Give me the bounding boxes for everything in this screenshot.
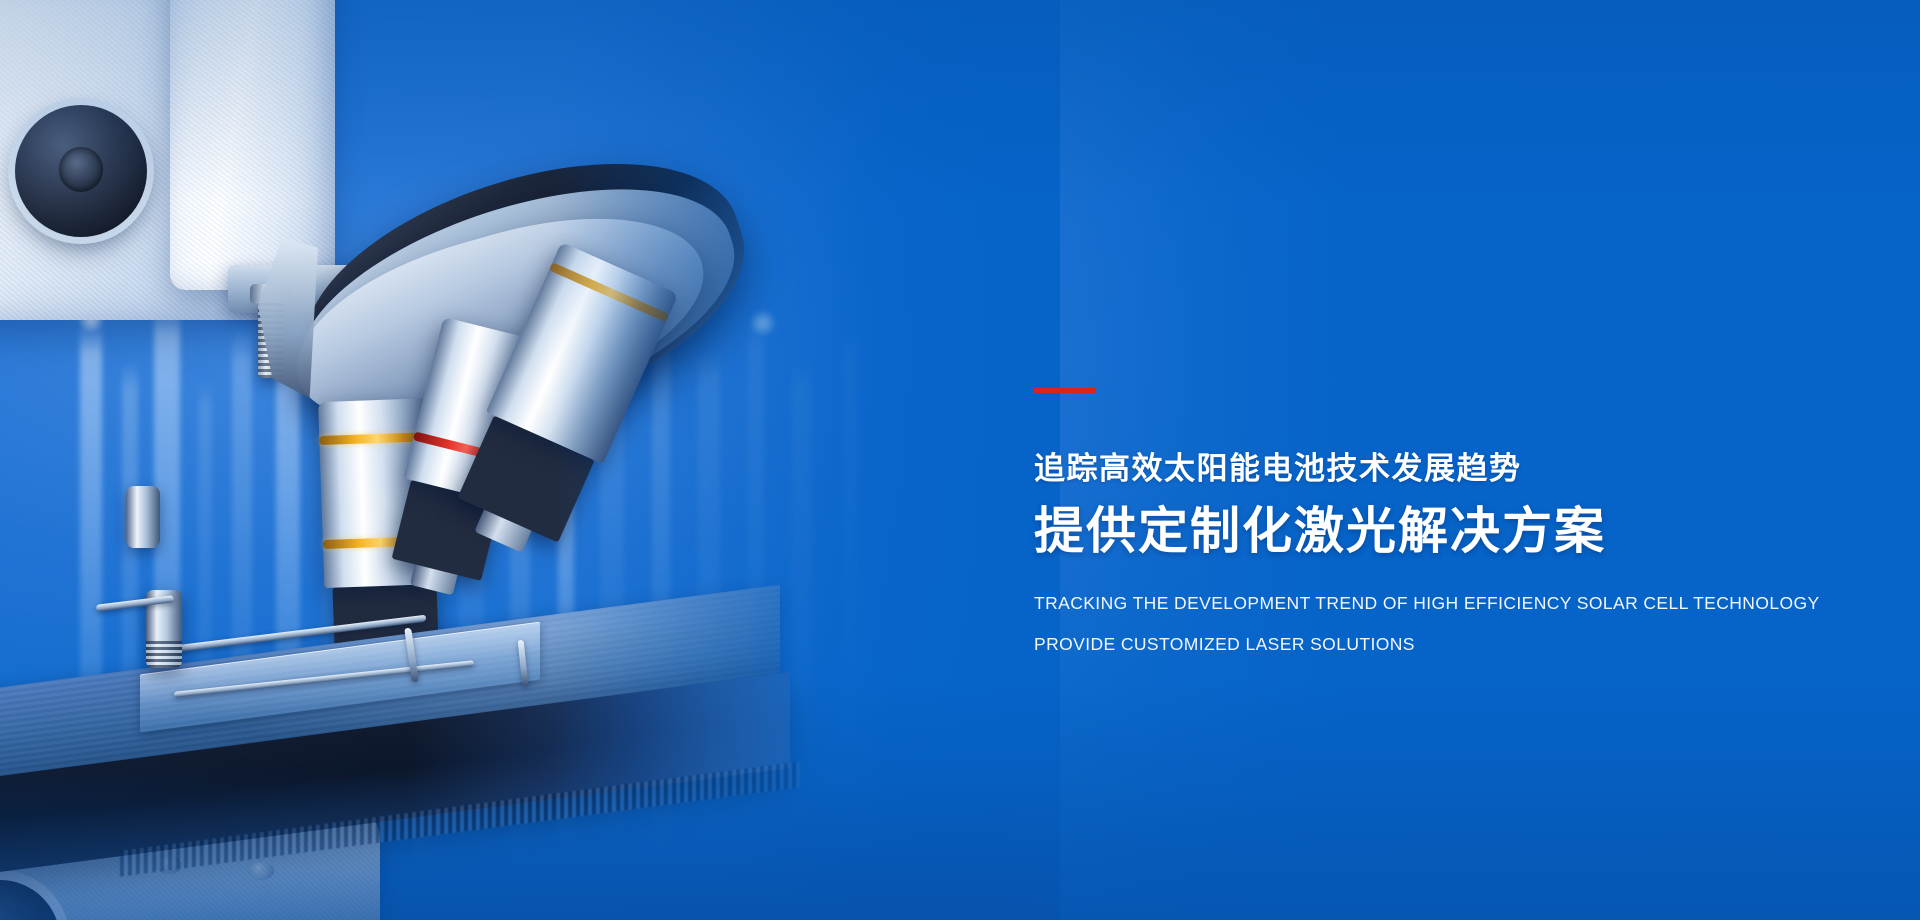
banner-english-line-1: TRACKING THE DEVELOPMENT TREND OF HIGH E…: [1034, 594, 1854, 613]
banner-subheading: 追踪高效太阳能电池技术发展趋势: [1034, 451, 1854, 487]
banner-english-line-2: PROVIDE CUSTOMIZED LASER SOLUTIONS: [1034, 635, 1854, 654]
banner-headline: 提供定制化激光解决方案: [1034, 503, 1854, 561]
banner-content: 追踪高效太阳能电池技术发展趋势 提供定制化激光解决方案 TRACKING THE…: [1034, 388, 1854, 655]
hero-banner: 追踪高效太阳能电池技术发展趋势 提供定制化激光解决方案 TRACKING THE…: [0, 0, 1920, 920]
accent-rule: [1034, 388, 1096, 393]
